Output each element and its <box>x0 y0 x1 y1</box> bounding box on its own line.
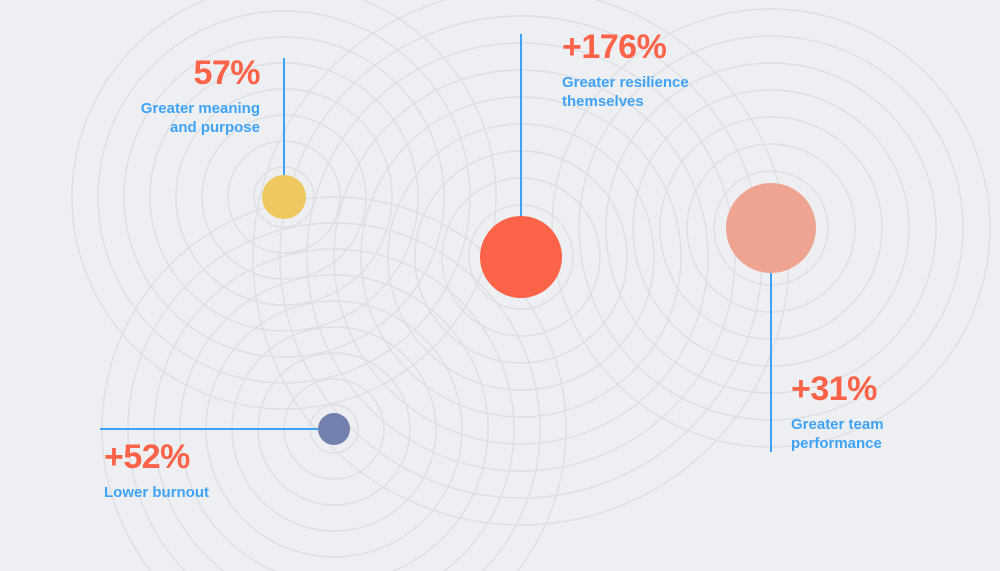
infographic-canvas: 57%Greater meaningand purpose+176%Greate… <box>0 0 1000 571</box>
data-dot-team[interactable] <box>726 183 816 273</box>
stat-label-line1-resilience: Greater resilience <box>562 73 792 92</box>
ripple-ring <box>128 223 540 571</box>
data-dot-resilience[interactable] <box>480 216 562 298</box>
stat-label-team: Greater teamperformance <box>791 415 991 453</box>
ripple-ring <box>154 249 514 571</box>
stat-value-team: +31% <box>791 372 991 406</box>
stat-block-resilience: +176%Greater resiliencethemselves <box>562 30 792 111</box>
stat-value-burnout: +52% <box>104 440 334 474</box>
stat-label-resilience: Greater resiliencethemselves <box>562 73 792 111</box>
stat-block-team: +31%Greater teamperformance <box>791 372 991 453</box>
stat-label-line1-burnout: Lower burnout <box>104 483 334 502</box>
stat-value-meaning: 57% <box>52 56 260 90</box>
connector-line-burnout <box>100 428 336 430</box>
data-dot-meaning[interactable] <box>262 175 306 219</box>
stat-value-resilience: +176% <box>562 30 792 64</box>
stat-block-meaning: 57%Greater meaningand purpose <box>52 56 260 137</box>
stat-label-line1-meaning: Greater meaning <box>52 99 260 118</box>
stat-label-line2-meaning: and purpose <box>52 118 260 137</box>
stat-label-meaning: Greater meaningand purpose <box>52 99 260 137</box>
stat-label-burnout: Lower burnout <box>104 483 334 502</box>
stat-label-line2-resilience: themselves <box>562 92 792 111</box>
stat-label-line1-team: Greater team <box>791 415 991 434</box>
stat-label-line2-team: performance <box>791 434 991 453</box>
stat-block-burnout: +52%Lower burnout <box>104 440 334 502</box>
